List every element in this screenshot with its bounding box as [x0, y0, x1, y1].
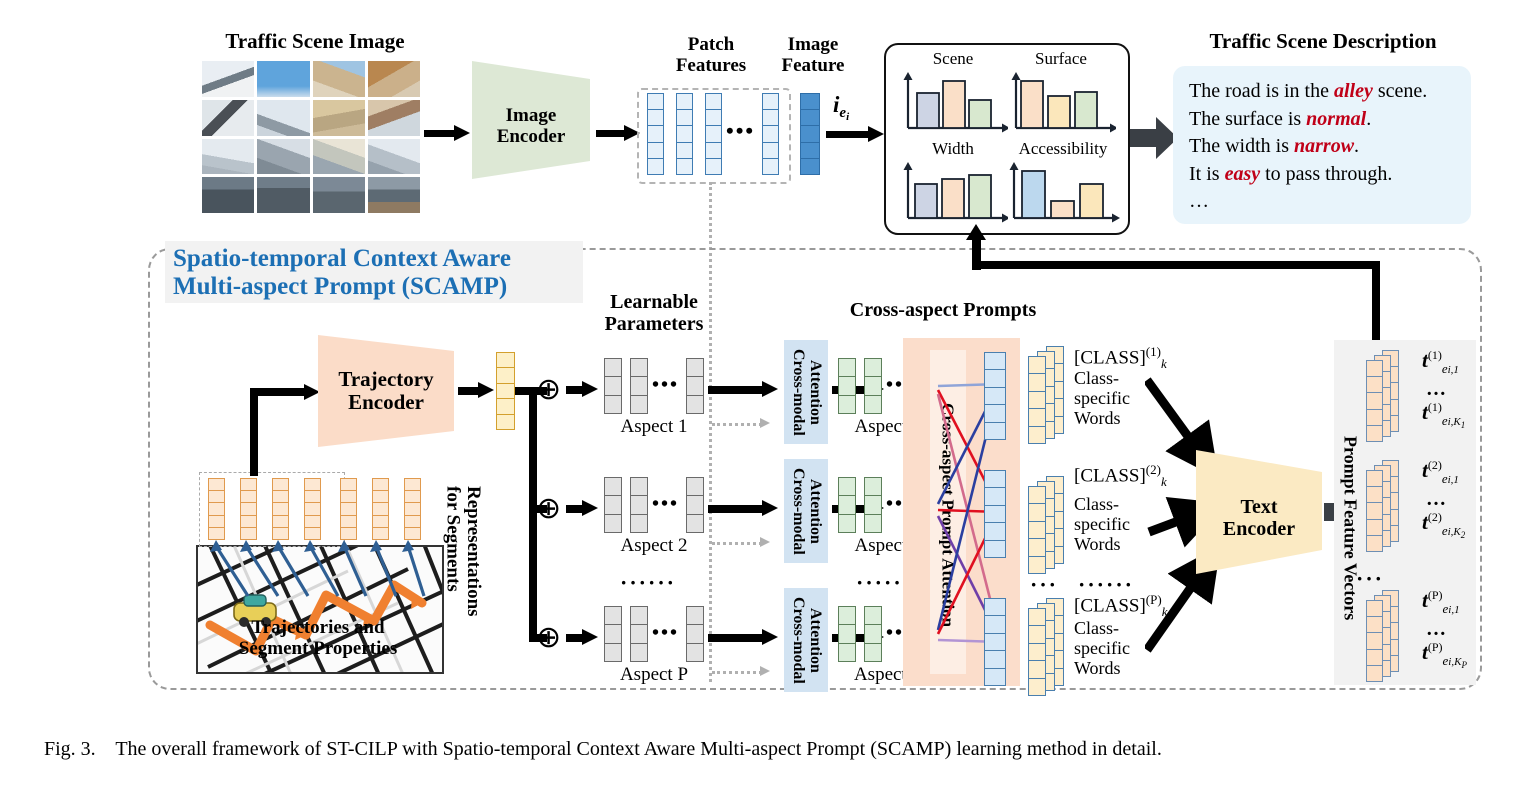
segment-vector [240, 478, 257, 540]
image-patch [313, 100, 365, 136]
learnable-param-vector [686, 606, 704, 662]
scamp-title-line1: Spatio-temporal Context Aware [173, 245, 575, 273]
image-patch [257, 100, 309, 136]
prompt-feedback-riser [1372, 261, 1380, 346]
mini-chart-scene: Scene [898, 50, 1008, 138]
description-line: The surface is normal. [1189, 106, 1455, 134]
learnable-param-vector [686, 358, 704, 414]
prompt-feature-ellipsis-1: … [1426, 378, 1448, 401]
image-patch [313, 61, 365, 97]
arrow-params-to-crossmodal-row3 [708, 632, 780, 644]
arrow-encoder-to-traj-vector [458, 385, 494, 397]
arrow-image-to-encoder [424, 127, 470, 139]
mini-chart-title: Width [898, 140, 1008, 158]
arrow-encoder-to-patches [596, 127, 642, 139]
description-line: It is easy to pass through. [1189, 161, 1455, 189]
image-patch [313, 177, 365, 213]
prompt-feature-ellipsis-3: … [1426, 618, 1448, 641]
representations-for-segments-label: Representations for Segments [442, 486, 483, 666]
learnable-param-vector [630, 606, 648, 662]
scamp-title-line2: Multi-aspect Prompt (SCAMP) [173, 273, 575, 301]
image-patch [313, 139, 365, 175]
class-word-vector [1028, 486, 1046, 574]
patch-feature-vector [676, 93, 693, 175]
segment-vector [208, 478, 225, 540]
segment-vector [304, 478, 321, 540]
cross-aspect-attention-label: Cross-aspect Prompt Attention [938, 360, 956, 670]
class-blocks-col-ellipsis: ··· [1030, 572, 1058, 598]
traffic-scene-description-box: The road is in the alley scene. The surf… [1173, 66, 1471, 224]
plus-operator-row1: ⊕ [536, 375, 561, 405]
aspect-prompt-vector [864, 606, 882, 662]
traffic-scene-image-title: Traffic Scene Image [190, 30, 440, 53]
mini-chart-accessibility: Accessibility [1004, 140, 1122, 228]
class-word-vector [1028, 608, 1046, 696]
segment-vector [272, 478, 289, 540]
aspect-label-left-2: Aspect 2 [598, 535, 710, 557]
scamp-title-block: Spatio-temporal Context Aware Multi-aspe… [165, 241, 583, 303]
learnable-params-ellipsis: ••• [652, 622, 679, 645]
prompt-feature-symbol-top-2: t(2)ei,1 [1422, 458, 1459, 487]
prompt-feedback-line [978, 261, 1380, 269]
learnable-param-vector [604, 606, 622, 662]
aspect-prompt-vector [838, 477, 856, 533]
class-token-label-3: [CLASS](P)k [1074, 592, 1167, 620]
image-encoder-block: ❅ Image Encoder [472, 61, 590, 179]
image-patch [368, 177, 420, 213]
patch-feature-vector [762, 93, 779, 175]
image-patch [202, 100, 254, 136]
aspect-label-left-1: Aspect 1 [598, 416, 710, 438]
figure-caption: Fig. 3. The overall framework of ST-CILP… [44, 738, 1494, 761]
image-patch [368, 61, 420, 97]
patch-features-title: Patch Features [650, 35, 772, 76]
learnable-parameters-title: Learnable Parameters [576, 292, 732, 335]
aspect-rows-ellipsis-left: ······ [620, 570, 676, 596]
learnable-params-ellipsis: ••• [652, 374, 679, 397]
learnable-param-vector [604, 477, 622, 533]
image-patch [368, 100, 420, 136]
patch-feature-vector [705, 93, 722, 175]
prompt-feature-vector [1366, 600, 1383, 682]
image-patch [202, 61, 254, 97]
traffic-scene-image [202, 61, 420, 213]
aspect-label-left-3: Aspect P [598, 664, 710, 686]
arrow-plus-to-params-row3 [566, 632, 600, 644]
description-line: The width is narrow. [1189, 133, 1455, 161]
image-feature-title: Image Feature [766, 35, 860, 76]
learnable-params-ellipsis: ••• [652, 493, 679, 516]
arrow-params-to-crossmodal-row1 [708, 384, 780, 396]
description-line: … [1189, 188, 1455, 216]
cross-aspect-prompts-title: Cross-aspect Prompts [828, 300, 1058, 322]
image-feature-vector [800, 93, 820, 175]
learnable-param-vector [630, 477, 648, 533]
class-specific-words-label-1: Class- specific Words [1074, 368, 1130, 428]
mini-chart-surface: Surface [1006, 50, 1116, 138]
text-encoder-block: ❅ Text Encoder [1196, 450, 1322, 574]
prompt-groups-ellipsis: ··· [1356, 566, 1384, 592]
arrow-params-to-crossmodal-row2 [708, 503, 780, 515]
image-patch [257, 61, 309, 97]
segments-to-encoder-riser [250, 391, 258, 476]
trajectory-encoder-label-1: Trajectory [338, 368, 433, 391]
cross-modal-attention-row1: AttentionCross-modal [784, 340, 828, 444]
dotted-arrow-image-to-crossmodal-row1 [712, 420, 778, 430]
description-line: The road is in the alley scene. [1189, 78, 1455, 106]
arrow-plus-to-params-row2 [566, 503, 600, 515]
caption-text: The overall framework of ST-CILP with Sp… [115, 738, 1162, 760]
plus-operator-row2: ⊕ [536, 494, 561, 524]
patch-features-ellipsis: ••• [726, 118, 755, 144]
cross-modal-attention-row2: AttentionCross-modal [784, 459, 828, 563]
mini-chart-title: Accessibility [1004, 140, 1122, 158]
prompt-feature-stack-2 [1366, 460, 1416, 552]
mini-chart-width: Width [898, 140, 1008, 228]
arrow-plus-to-params-row1 [566, 384, 600, 396]
segment-vector [372, 478, 389, 540]
prompt-feature-stack-3 [1366, 590, 1416, 682]
prompt-feature-symbol-bottom-2: t(2)ei,K2 [1422, 510, 1465, 540]
aspect-prompt-vector [838, 606, 856, 662]
mini-chart-title: Scene [898, 50, 1008, 68]
trajectory-encoder-block: Trajectory Encoder [318, 335, 454, 447]
segment-vector [340, 478, 357, 540]
class-specific-words-label-3: Class- specific Words [1074, 618, 1130, 678]
class-token-label-2: [CLASS](2)k [1074, 462, 1167, 490]
segments-to-encoder-line [250, 388, 308, 396]
class-word-vector [1028, 356, 1046, 444]
aspect-prompt-vector [864, 358, 882, 414]
image-patch [368, 139, 420, 175]
image-patch [202, 139, 254, 175]
fused-prompt-vector [984, 598, 1006, 686]
aspect-prompt-vector [864, 477, 882, 533]
plus-operator-row3: ⊕ [536, 623, 561, 653]
image-encoder-label-1: Image [497, 106, 566, 127]
arrow-feature-to-histograms [826, 128, 888, 140]
aspect-prompt-vector [838, 358, 856, 414]
trajectory-encoder-label-2: Encoder [338, 391, 433, 414]
prompt-feature-symbol-bottom-3: t(P)ei,KP [1422, 640, 1467, 670]
caption-prefix: Fig. 3. [44, 738, 96, 760]
image-patch [202, 177, 254, 213]
mini-chart-title: Surface [1006, 50, 1116, 68]
learnable-param-vector [686, 477, 704, 533]
cross-modal-attention-row3: AttentionCross-modal [784, 588, 828, 692]
image-patch [257, 177, 309, 213]
learnable-param-vector [604, 358, 622, 414]
trajectory-context-vector [496, 352, 515, 430]
prompt-feature-vector [1366, 360, 1383, 442]
prompt-feature-symbol-top-3: t(P)ei,1 [1422, 588, 1460, 617]
image-patch [257, 139, 309, 175]
trajectories-map-label: Trajectories and Segment Properties [200, 618, 436, 660]
traffic-scene-description-title: Traffic Scene Description [1168, 30, 1478, 53]
prompt-feature-symbol-top-1: t(1)ei,1 [1422, 348, 1459, 377]
segment-vector [404, 478, 421, 540]
learnable-param-vector [630, 358, 648, 414]
image-feature-symbol: iei [833, 92, 849, 123]
dotted-arrow-image-to-crossmodal-row2 [712, 539, 778, 549]
text-encoder-label-1: Text [1223, 496, 1295, 518]
prompt-feature-symbol-bottom-1: t(1)ei,K1 [1422, 400, 1465, 430]
class-specific-words-label-2: Class- specific Words [1074, 494, 1130, 554]
patch-feature-vector [647, 93, 664, 175]
image-encoder-label-2: Encoder [497, 127, 566, 148]
prompt-feature-ellipsis-2: … [1426, 488, 1448, 511]
prompt-feature-vectors-label: Prompt Feature Vectors [1340, 418, 1359, 638]
dotted-arrow-image-to-crossmodal-row3 [712, 668, 778, 678]
prompt-feature-stack-1 [1366, 350, 1416, 442]
prompt-feature-vector [1366, 470, 1383, 552]
fused-prompt-vector [984, 470, 1006, 558]
fused-prompt-vector [984, 352, 1006, 440]
text-encoder-label-2: Encoder [1223, 518, 1295, 540]
